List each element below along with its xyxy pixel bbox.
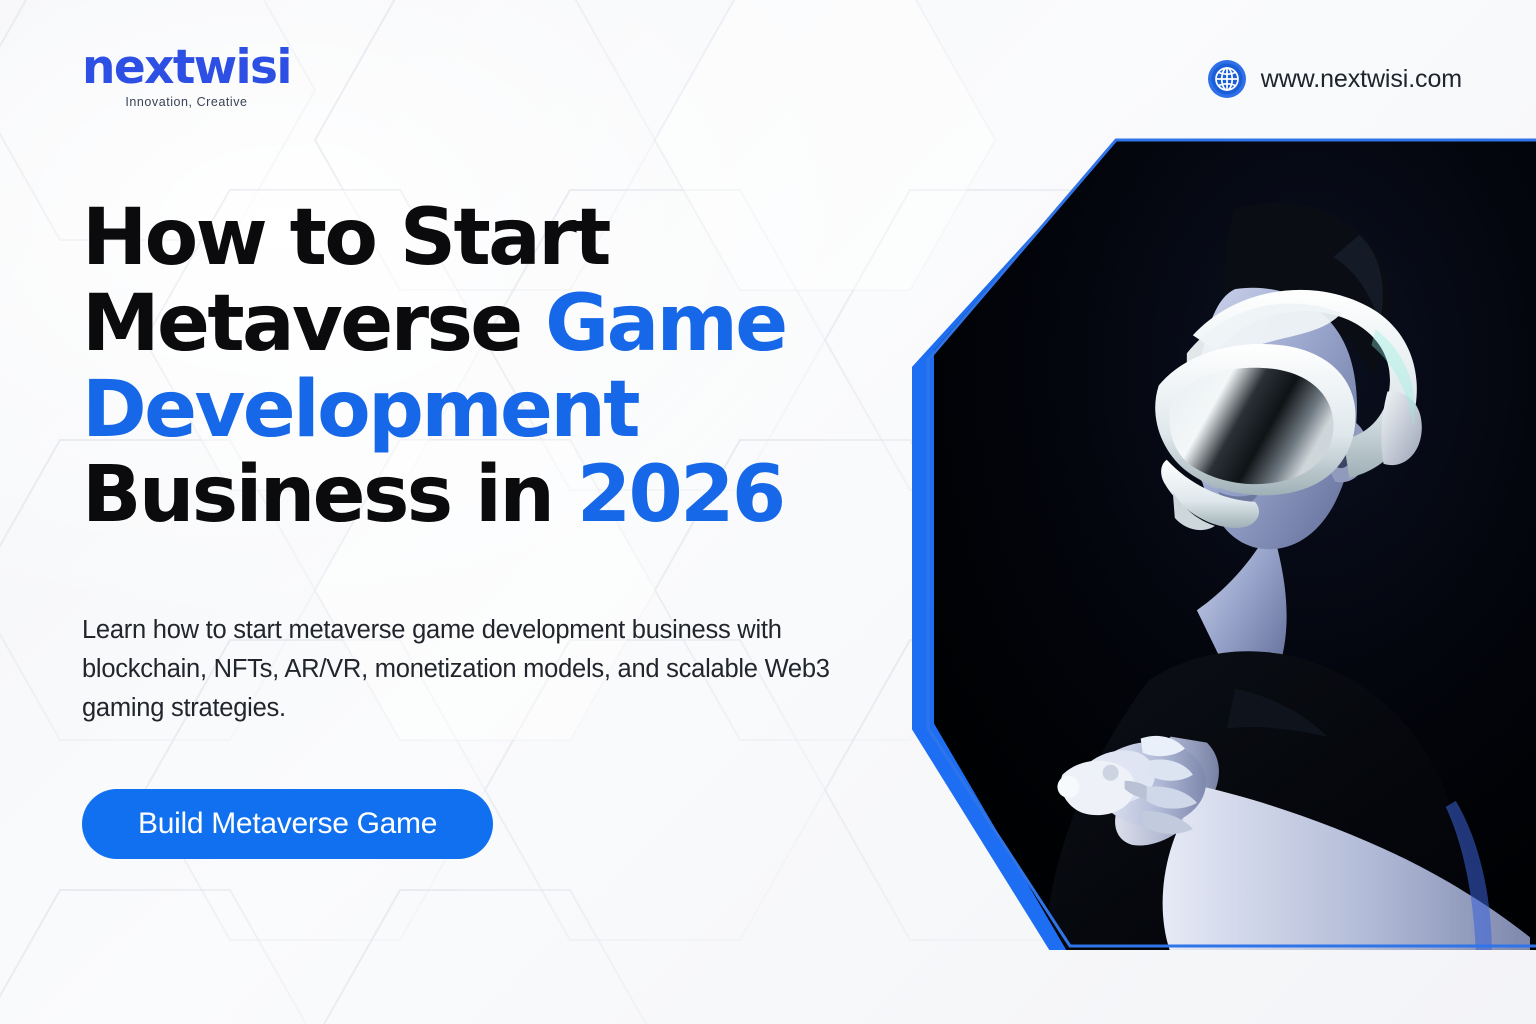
brand-logo[interactable]: nextwisi Innovation, Creative — [82, 44, 291, 109]
hero-subtitle: Learn how to start metaverse game develo… — [82, 611, 882, 727]
globe-icon — [1207, 59, 1247, 99]
headline-line-2-black: Metaverse — [82, 279, 545, 369]
hero-copy-column: How to Start Metaverse Game Development … — [82, 196, 882, 859]
headline-line-4-black: Business in — [82, 450, 577, 540]
headline-line-4-accent: 2026 — [577, 450, 784, 540]
headline-line-2: Metaverse Game — [82, 282, 882, 368]
brand-logo-wordmark: nextwisi — [82, 44, 291, 91]
headline-line-3: Development — [82, 368, 882, 454]
headline-line-3-accent: Development — [82, 365, 638, 455]
headline-line-4: Business in 2026 — [82, 453, 882, 539]
headline-line-1: How to Start — [82, 196, 882, 282]
page-title: How to Start Metaverse Game Development … — [82, 196, 882, 539]
brand-logo-tagline: Innovation, Creative — [82, 95, 291, 109]
website-link[interactable]: www.nextwisi.com — [1207, 59, 1462, 99]
hexagon-outline — [920, 128, 1536, 958]
website-url-text: www.nextwisi.com — [1261, 65, 1462, 94]
build-metaverse-game-button[interactable]: Build Metaverse Game — [82, 789, 493, 859]
headline-line-2-accent: Game — [545, 279, 785, 369]
headline-line-1-text: How to Start — [82, 193, 609, 283]
banner-canvas: nextwisi Innovation, Creative www.nextwi… — [0, 0, 1536, 1024]
hero-artwork — [896, 140, 1536, 950]
